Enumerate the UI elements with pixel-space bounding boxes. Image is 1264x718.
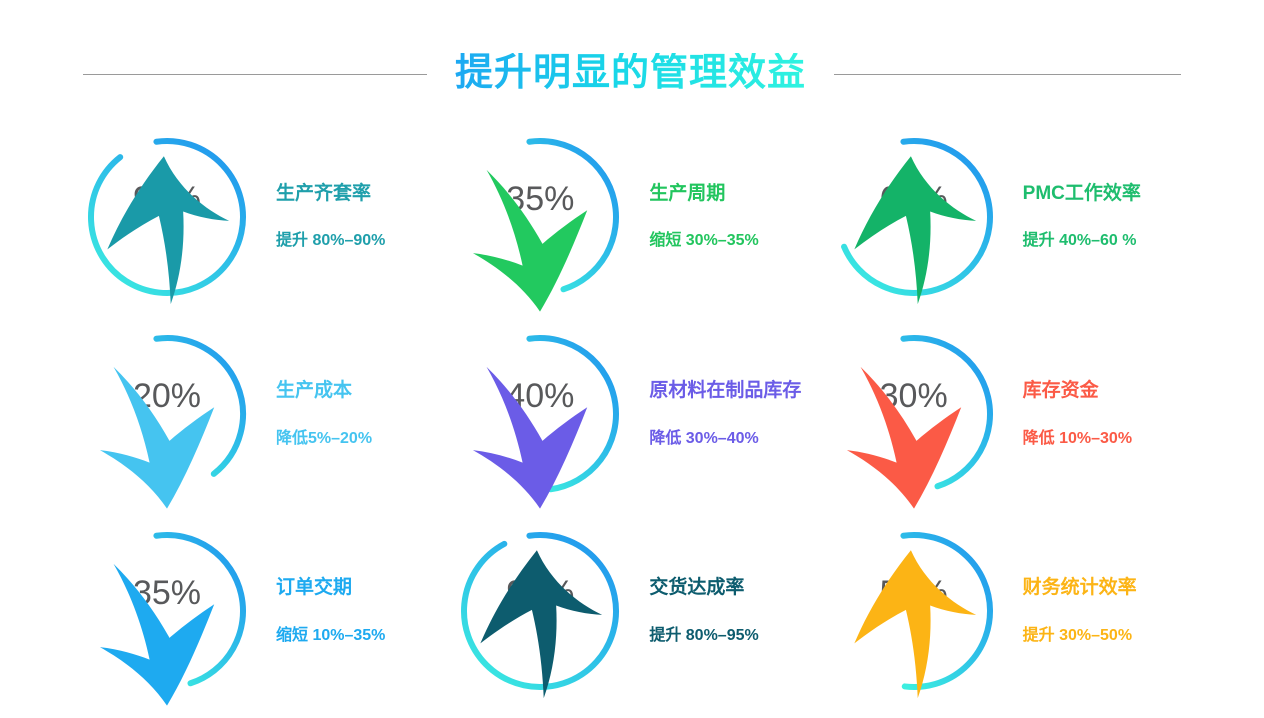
arrow-down-icon <box>453 417 627 451</box>
metric-subtitle: 降低 30%–40% <box>649 429 801 448</box>
gauge-order-lead-time: 35% <box>80 524 254 698</box>
gauge-pmc-work-efficiency: 60% <box>827 130 1001 304</box>
metric-title: PMC工作效率 <box>1023 183 1141 206</box>
metric-subtitle: 缩短 10%–35% <box>276 626 385 645</box>
metric-title: 生产齐套率 <box>276 183 385 206</box>
metric-cell: 90%生产齐套率提升 80%–90% <box>72 118 445 315</box>
metric-subtitle: 提升 40%–60 % <box>1023 231 1141 250</box>
metric-title: 生产成本 <box>276 380 372 403</box>
metric-labels: 生产齐套率提升 80%–90% <box>276 183 385 251</box>
metric-subtitle: 降低5%–20% <box>276 429 372 448</box>
gauge-inventory-capital: 30% <box>827 327 1001 501</box>
metric-cell: 60%PMC工作效率提升 40%–60 % <box>819 118 1192 315</box>
page-title: 提升明显的管理效益 <box>455 53 806 95</box>
metric-labels: PMC工作效率提升 40%–60 % <box>1023 183 1141 251</box>
gauge-center: 95% <box>453 524 627 698</box>
metric-cell: 30%库存资金降低 10%–30% <box>819 315 1192 512</box>
metric-labels: 生产成本降低5%–20% <box>276 380 372 448</box>
gauge-raw-material-wip-inventory: 40% <box>453 327 627 501</box>
metric-labels: 生产周期缩短 30%–35% <box>649 183 758 251</box>
metric-subtitle: 提升 80%–95% <box>649 626 758 645</box>
title-divider-left <box>83 74 427 75</box>
metric-title: 生产周期 <box>649 183 758 206</box>
gauge-center: 50% <box>827 524 1001 698</box>
gauge-center: 20% <box>80 327 254 501</box>
gauge-center: 90% <box>80 130 254 304</box>
gauge-delivery-achievement-rate: 95% <box>453 524 627 698</box>
gauge-center: 30% <box>827 327 1001 501</box>
gauge-financial-statistics-efficiency: 50% <box>827 524 1001 698</box>
metric-title: 库存资金 <box>1023 380 1132 403</box>
metrics-grid: 90%生产齐套率提升 80%–90%35%生产周期缩短 30%–35%60%PM… <box>72 118 1192 710</box>
metric-title: 订单交期 <box>276 577 385 600</box>
arrow-down-icon <box>80 417 254 451</box>
metric-cell: 20%生产成本降低5%–20% <box>72 315 445 512</box>
arrow-down-icon <box>453 220 627 254</box>
metric-title: 财务统计效率 <box>1023 577 1137 600</box>
page-title-row: 提升明显的管理效益 <box>0 46 1264 102</box>
arrow-up-icon <box>80 220 254 254</box>
arrow-up-icon <box>827 614 1001 648</box>
metric-cell: 40%原材料在制品库存降低 30%–40% <box>445 315 818 512</box>
metric-cell: 50%财务统计效率提升 30%–50% <box>819 513 1192 710</box>
gauge-production-cost: 20% <box>80 327 254 501</box>
arrow-up-icon <box>827 220 1001 254</box>
metric-cell: 95%交货达成率提升 80%–95% <box>445 513 818 710</box>
gauge-center: 40% <box>453 327 627 501</box>
title-divider-right <box>834 74 1181 75</box>
metric-labels: 财务统计效率提升 30%–50% <box>1023 577 1137 645</box>
metric-title: 原材料在制品库存 <box>649 380 801 403</box>
metric-labels: 交货达成率提升 80%–95% <box>649 577 758 645</box>
metric-cell: 35%订单交期缩短 10%–35% <box>72 513 445 710</box>
gauge-production-cycle: 35% <box>453 130 627 304</box>
gauge-center: 35% <box>453 130 627 304</box>
arrow-down-icon <box>80 614 254 648</box>
metric-subtitle: 降低 10%–30% <box>1023 429 1132 448</box>
metric-subtitle: 提升 80%–90% <box>276 231 385 250</box>
metric-cell: 35%生产周期缩短 30%–35% <box>445 118 818 315</box>
gauge-center: 60% <box>827 130 1001 304</box>
arrow-down-icon <box>827 417 1001 451</box>
metric-labels: 订单交期缩短 10%–35% <box>276 577 385 645</box>
metric-title: 交货达成率 <box>649 577 758 600</box>
metric-labels: 原材料在制品库存降低 30%–40% <box>649 380 801 448</box>
metric-labels: 库存资金降低 10%–30% <box>1023 380 1132 448</box>
metric-subtitle: 提升 30%–50% <box>1023 626 1137 645</box>
gauge-production-completeness-rate: 90% <box>80 130 254 304</box>
arrow-up-icon <box>453 614 627 648</box>
metric-subtitle: 缩短 30%–35% <box>649 231 758 250</box>
gauge-center: 35% <box>80 524 254 698</box>
